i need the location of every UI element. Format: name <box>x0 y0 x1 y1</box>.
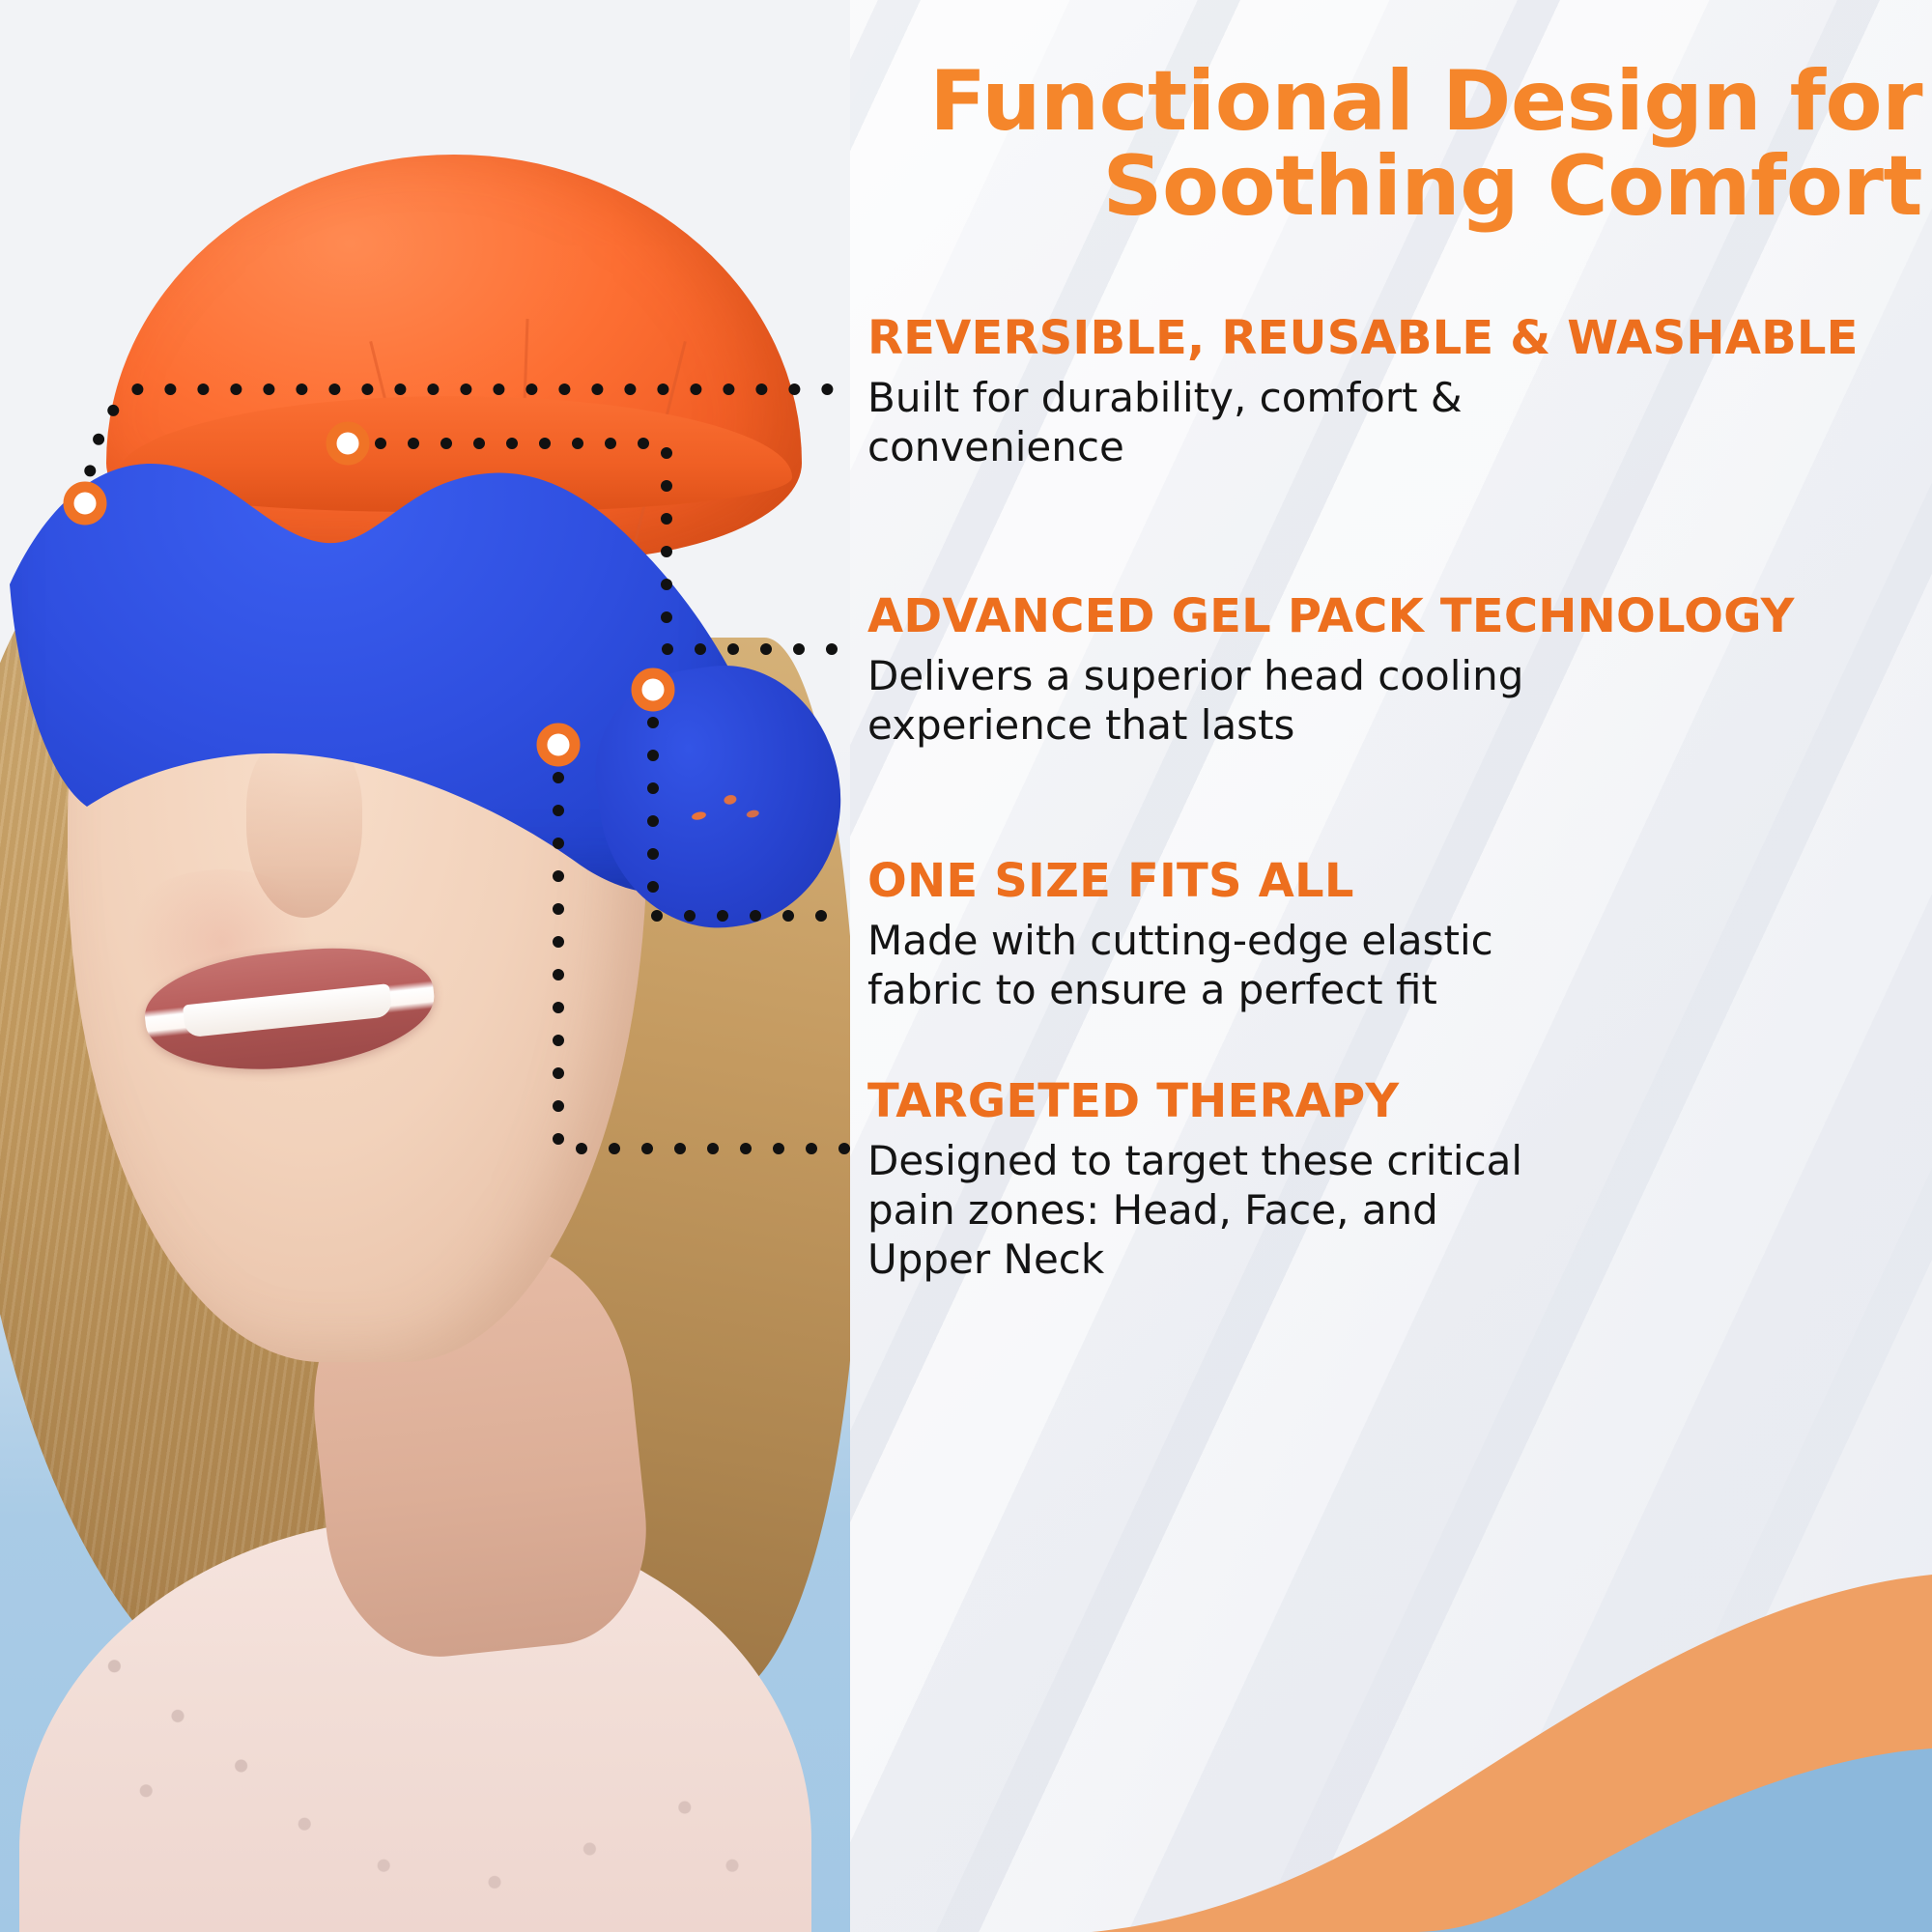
teeth <box>183 983 392 1037</box>
feature-body: Made with cutting-edge elastic fabric to… <box>867 916 1544 1014</box>
feature-advanced-gel-pack-technology: ADVANCED GEL PACK TECHNOLOGY Delivers a … <box>867 592 1795 750</box>
feature-body: Designed to target these critical pain z… <box>867 1136 1544 1285</box>
feature-heading: REVERSIBLE, REUSABLE & WASHABLE <box>867 314 1859 363</box>
infographic-canvas: Functional Design for Soothing Comfort R… <box>0 0 1932 1932</box>
feature-body: Built for durability, comfort & convenie… <box>867 373 1544 471</box>
feature-heading: TARGETED THERAPY <box>867 1077 1544 1126</box>
title-line-2: Soothing Comfort <box>580 145 1922 230</box>
title-line-1: Functional Design for <box>580 60 1922 145</box>
feature-one-size-fits-all: ONE SIZE FITS ALL Made with cutting-edge… <box>867 857 1544 1014</box>
product-photo <box>0 0 850 1932</box>
feature-targeted-therapy: TARGETED THERAPY Designed to target thes… <box>867 1077 1544 1285</box>
feature-heading: ONE SIZE FITS ALL <box>867 857 1544 906</box>
feature-body: Delivers a superior head cooling experie… <box>867 651 1544 750</box>
feature-heading: ADVANCED GEL PACK TECHNOLOGY <box>867 592 1795 641</box>
feature-reversible-reusable-washable: REVERSIBLE, REUSABLE & WASHABLE Built fo… <box>867 314 1859 471</box>
page-title: Functional Design for Soothing Comfort <box>580 60 1922 229</box>
